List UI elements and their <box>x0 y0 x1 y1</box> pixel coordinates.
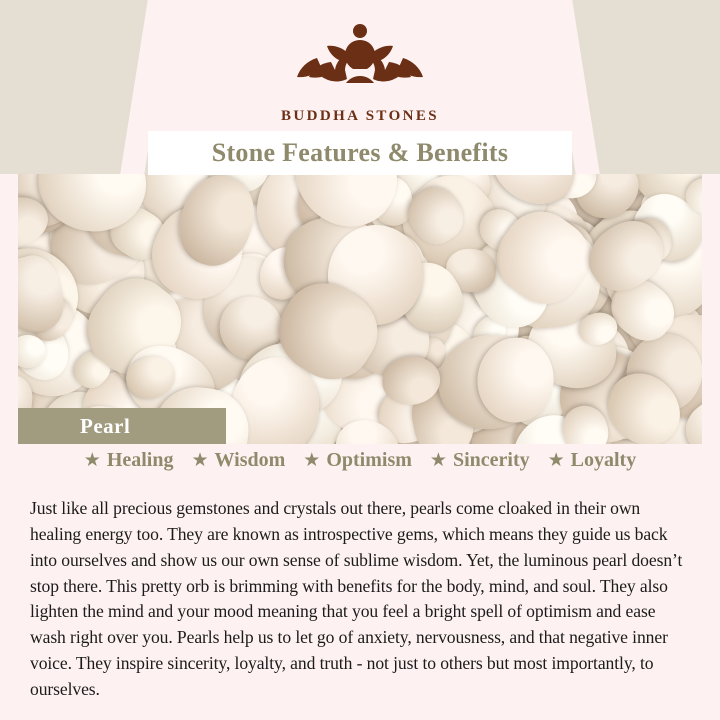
buddha-lotus-icon <box>275 18 445 104</box>
benefits-list: ★ Healing ★ Wisdom ★ Optimism ★ Sincerit… <box>18 444 702 476</box>
benefit-item: ★ Sincerity <box>430 449 530 472</box>
pearl-photo-canvas <box>18 174 702 444</box>
page-title: Stone Features & Benefits <box>212 138 509 168</box>
star-icon: ★ <box>548 451 565 470</box>
benefit-label: Optimism <box>326 449 412 472</box>
benefit-label: Healing <box>107 449 174 472</box>
benefit-item: ★ Wisdom <box>191 449 285 472</box>
description-text: Just like all precious gemstones and cry… <box>18 474 702 702</box>
benefit-item: ★ Optimism <box>303 449 412 472</box>
benefit-label: Sincerity <box>453 449 530 472</box>
infographic-page: BUDDHA STONES Stone Features & Benefits … <box>0 0 720 720</box>
star-icon: ★ <box>303 451 320 470</box>
star-icon: ★ <box>430 451 447 470</box>
bottom-edge <box>0 702 720 720</box>
benefit-label: Wisdom <box>215 449 286 472</box>
pearl-photo <box>18 174 702 444</box>
title-bar: Stone Features & Benefits <box>148 131 572 175</box>
stone-name: Pearl <box>18 414 130 439</box>
benefit-item: ★ Healing <box>84 449 174 472</box>
benefit-item: ★ Loyalty <box>548 449 637 472</box>
brand-name: BUDDHA STONES <box>0 108 720 125</box>
stone-caption: Pearl <box>18 408 226 444</box>
brand-logo: BUDDHA STONES <box>0 18 720 125</box>
star-icon: ★ <box>84 451 101 470</box>
benefit-label: Loyalty <box>571 449 637 472</box>
star-icon: ★ <box>191 451 208 470</box>
